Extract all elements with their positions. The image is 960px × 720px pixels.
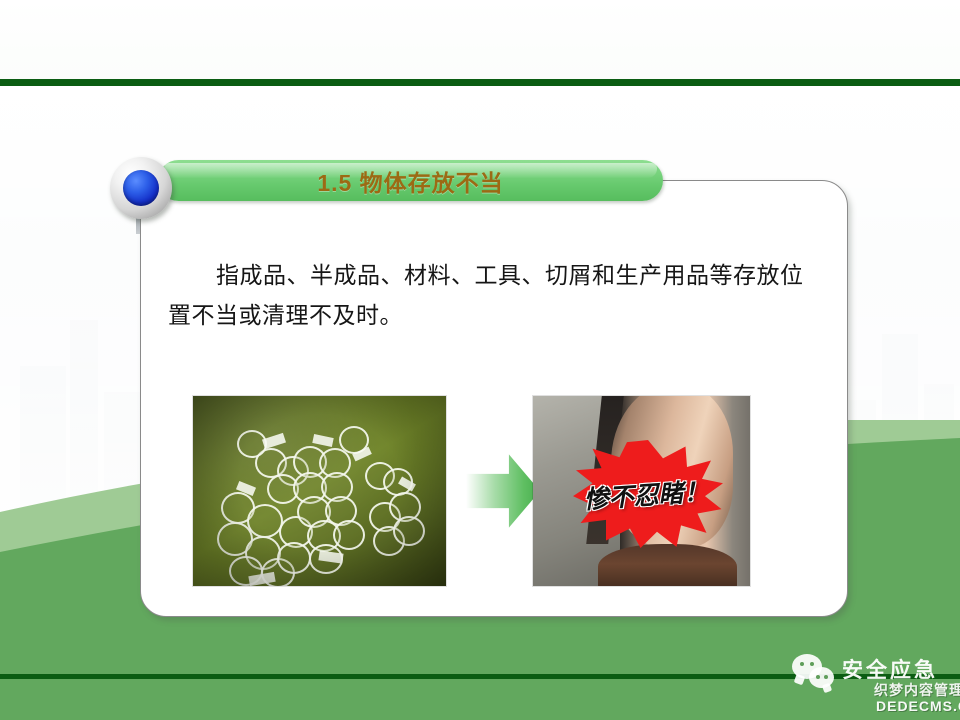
badge-blue-sphere [123,170,159,206]
section-title-banner: 1.5 物体存放不当 [158,160,663,201]
page-title: 1.5 物体存放不当 [158,160,663,201]
watermark-cn: 织梦内容管理系统 [874,680,960,700]
wechat-branding: 安全应急 织梦内容管理系统 DEDECMS.COM [792,650,952,712]
photo-shoe [598,544,737,586]
body-paragraph: 指成品、半成品、材料、工具、切屑和生产用品等存放位置不当或清理不及时。 [168,256,808,336]
photo-vignette [193,396,446,586]
presentation-slide: 1.5 物体存放不当 指成品、半成品、材料、工具、切屑和生产用品等存放位置不当或… [0,0,960,720]
watermark-en: DEDECMS.COM [876,698,960,714]
wechat-icon-secondary [809,667,834,688]
slide-top-dark-green-bar [0,79,960,86]
bullet-badge-icon [110,157,172,219]
starburst-label: 惨不忍睹！ [550,469,742,518]
starburst-callout: 惨不忍睹！ [573,440,723,548]
figure-injured-foot: 惨不忍睹！ [533,396,750,586]
figure-scrap-on-grass [193,396,446,586]
slide-top-white-band [0,0,960,79]
